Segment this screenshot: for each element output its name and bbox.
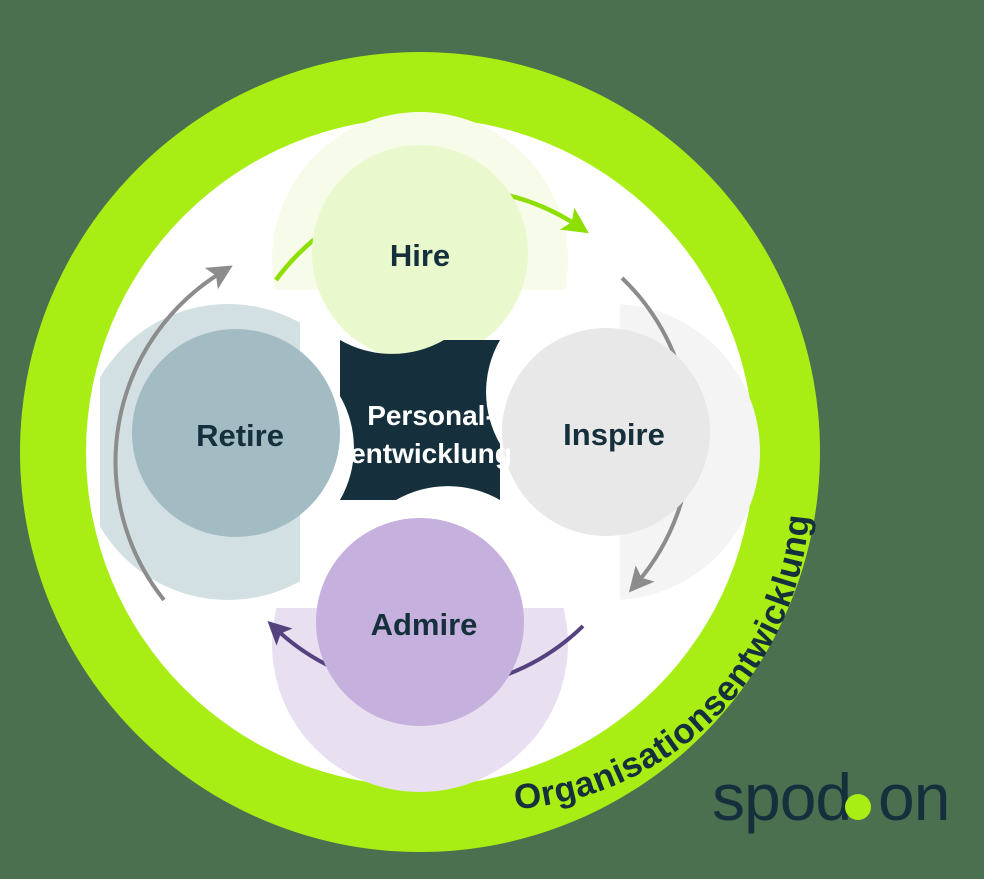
node-admire-label: Admire [371, 607, 478, 642]
logo: spod on [712, 760, 949, 834]
node-inspire-label: Inspire [563, 417, 665, 452]
diagram-canvas: Hire Inspire Admire Retire Personal- ent… [0, 0, 984, 879]
node-retire-label: Retire [196, 418, 284, 453]
cycle-diagram: Hire Inspire Admire Retire Personal- ent… [0, 0, 984, 879]
center-label-line1: Personal- [367, 400, 495, 431]
logo-text-before-dot: spod [712, 760, 851, 834]
logo-dot-icon [845, 794, 871, 820]
logo-text-after-dot: on [878, 760, 949, 834]
node-hire-label: Hire [390, 238, 450, 273]
center-label-line2: entwicklung [350, 438, 512, 469]
